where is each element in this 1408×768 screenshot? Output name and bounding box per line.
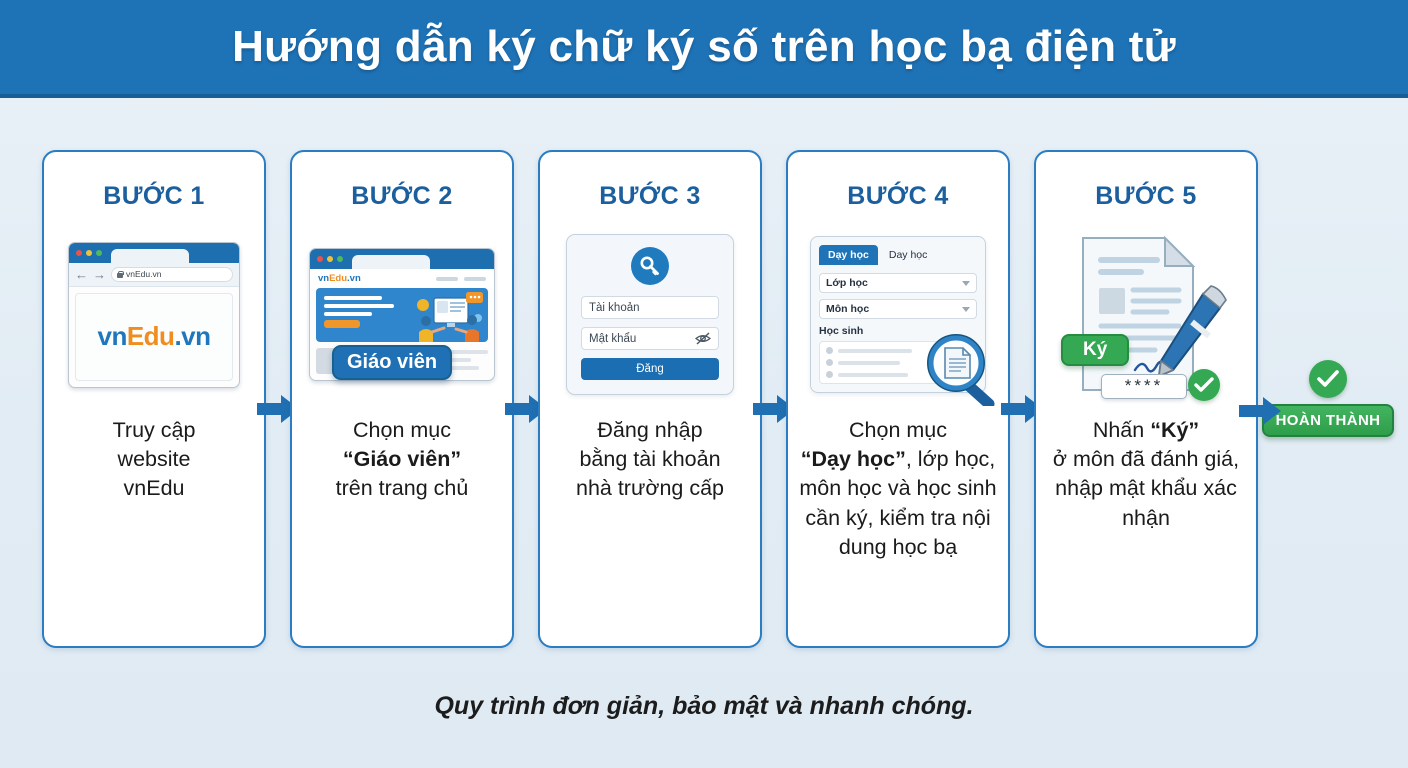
panel-tabs: Dạy học Day học xyxy=(819,245,977,265)
arrow-right-icon xyxy=(1239,396,1281,426)
step-card-1[interactable]: BƯỚC 1 ← → xyxy=(42,150,266,648)
step-1-illustration: ← → vnEdu.vn vnEdu.vn xyxy=(44,227,264,402)
vnedu-logo-dotvn: .vn xyxy=(347,273,361,284)
lock-icon xyxy=(117,271,123,278)
connector-gap-3 xyxy=(762,150,786,648)
teacher-role-button[interactable]: Giáo viên xyxy=(332,345,452,380)
page-title: Hướng dẫn ký chữ ký số trên học bạ điện … xyxy=(232,22,1176,72)
signature-password-input[interactable]: **** xyxy=(1101,374,1187,399)
browser-window-mock: ← → vnEdu.vn vnEdu.vn xyxy=(68,242,240,388)
step-card-4[interactable]: BƯỚC 4 Dạy học Day học Lớp học Môn học xyxy=(786,150,1010,648)
vnedu-logo: vnEdu.vn xyxy=(97,321,210,352)
subject-select[interactable]: Môn học xyxy=(819,299,977,319)
teacher-students-monitor-illustration xyxy=(410,288,488,342)
step-card-3[interactable]: BƯỚC 3 Tài khoản Mật khẩu xyxy=(538,150,762,648)
caption-text-5c: ở môn đã đánh giá, nhập mật khẩu xác nhậ… xyxy=(1053,447,1239,529)
caption-text-1: Truy cập website vnEdu xyxy=(113,418,196,500)
browser-viewport: vnEdu.vn xyxy=(75,293,233,381)
arrow-right-icon[interactable]: → xyxy=(93,268,106,281)
step-label-2: BƯỚC 2 xyxy=(292,182,512,211)
step-caption-4: Chọn mục “Dạy học”, lớp học, môn học và … xyxy=(798,416,998,562)
caption-text-5b: “Ký” xyxy=(1150,418,1199,442)
eye-off-icon[interactable] xyxy=(695,332,711,345)
close-dot-icon xyxy=(317,256,323,262)
class-select[interactable]: Lớp học xyxy=(819,273,977,293)
site-navbar: vnEdu.vn xyxy=(310,269,494,288)
nav-placeholder-item xyxy=(436,277,458,281)
close-dot-icon xyxy=(76,250,82,256)
step-caption-2: Chọn mục “Giáo viên” trên trang chủ xyxy=(302,416,502,504)
step-label-4: BƯỚC 4 xyxy=(788,182,1008,211)
student-name-placeholder xyxy=(838,373,908,377)
step-caption-3: Đăng nhập bằng tài khoản nhà trường cấp xyxy=(550,416,750,504)
step-caption-1: Truy cập website vnEdu xyxy=(54,416,254,504)
browser-navbar: ← → vnEdu.vn xyxy=(69,263,239,287)
login-submit-button[interactable]: Đăng xyxy=(581,358,719,380)
username-placeholder: Tài khoản xyxy=(589,302,640,314)
vnedu-logo-vn: vn xyxy=(97,321,126,351)
step-2-illustration: vnEdu.vn xyxy=(292,227,512,402)
username-field[interactable]: Tài khoản xyxy=(581,296,719,319)
hero-line xyxy=(324,296,382,300)
browser-titlebar xyxy=(69,243,239,263)
step-5-illustration: Ký **** xyxy=(1036,227,1256,402)
student-name-placeholder xyxy=(838,349,912,353)
header-banner: Hướng dẫn ký chữ ký số trên học bạ điện … xyxy=(0,0,1408,98)
bullet-icon xyxy=(826,359,833,366)
url-text: vnEdu.vn xyxy=(126,269,161,279)
vnedu-logo-dotvn: .vn xyxy=(174,321,210,351)
caption-text-4b: “Dạy học” xyxy=(801,447,906,471)
caption-text-2c: trên trang chủ xyxy=(336,476,469,500)
magnifier-document-icon xyxy=(923,330,997,406)
signing-document-mock: Ký **** xyxy=(1057,230,1235,400)
hero-banner xyxy=(316,288,488,342)
vnedu-logo-edu: Edu xyxy=(127,321,175,351)
hero-line xyxy=(324,304,394,308)
vnedu-logo-edu: Edu xyxy=(329,273,347,284)
minimize-dot-icon xyxy=(327,256,333,262)
maximize-dot-icon xyxy=(96,250,102,256)
hero-text-block xyxy=(316,288,410,342)
nav-placeholder-item xyxy=(464,277,486,281)
tab-day-hoc-idle[interactable]: Day học xyxy=(880,245,937,265)
maximize-dot-icon xyxy=(337,256,343,262)
connector-gap-4 xyxy=(1010,150,1034,648)
caption-text-2b: “Giáo viên” xyxy=(343,447,461,471)
step-label-5: BƯỚC 5 xyxy=(1036,182,1256,211)
chevron-down-icon xyxy=(962,307,970,312)
step-label-3: BƯỚC 3 xyxy=(540,182,760,211)
hero-line xyxy=(324,312,372,316)
browser-tab xyxy=(111,249,189,263)
infographic-page: Hướng dẫn ký chữ ký số trên học bạ điện … xyxy=(0,0,1408,768)
step-3-illustration: Tài khoản Mật khẩu Đăng xyxy=(540,227,760,402)
arrow-left-icon[interactable]: ← xyxy=(75,268,88,281)
footer-note: Quy trình đơn giản, bảo mật và nhanh chó… xyxy=(0,692,1408,721)
caption-text-3: Đăng nhập bằng tài khoản nhà trường cấp xyxy=(576,418,724,500)
student-name-placeholder xyxy=(838,361,900,365)
step-card-2[interactable]: BƯỚC 2 vnEdu.vn xyxy=(290,150,514,648)
step-caption-5: Nhấn “Ký” ở môn đã đánh giá, nhập mật kh… xyxy=(1046,416,1246,533)
step-card-5[interactable]: BƯỚC 5 xyxy=(1034,150,1258,648)
chevron-down-icon xyxy=(962,281,970,286)
finish-badge[interactable]: HOÀN THÀNH xyxy=(1262,404,1395,437)
browser-tab-2 xyxy=(352,255,430,269)
password-placeholder: Mật khẩu xyxy=(589,333,636,345)
check-circle-icon xyxy=(1309,360,1347,398)
hero-cta-button[interactable] xyxy=(324,320,360,328)
bullet-icon xyxy=(826,371,833,378)
class-select-label: Lớp học xyxy=(826,277,868,289)
check-circle-icon xyxy=(1188,369,1220,401)
tab-day-hoc-active[interactable]: Dạy học xyxy=(819,245,878,265)
step-4-illustration: Dạy học Day học Lớp học Môn học Học sinh xyxy=(788,227,1008,402)
caption-text-2a: Chọn mục xyxy=(353,418,451,442)
login-form-mock: Tài khoản Mật khẩu Đăng xyxy=(566,234,734,395)
vnedu-logo-vn: vn xyxy=(318,273,329,284)
finish-block: HOÀN THÀNH xyxy=(1258,360,1398,437)
step-label-1: BƯỚC 1 xyxy=(44,182,264,211)
password-field[interactable]: Mật khẩu xyxy=(581,327,719,350)
bullet-icon xyxy=(826,347,833,354)
connector-gap-2 xyxy=(514,150,538,648)
sign-button[interactable]: Ký xyxy=(1061,334,1129,366)
window-controls-2 xyxy=(317,256,343,262)
connector-gap-1 xyxy=(266,150,290,648)
steps-row: BƯỚC 1 ← → xyxy=(42,150,1258,648)
subject-select-label: Môn học xyxy=(826,303,869,315)
key-icon xyxy=(631,247,669,285)
vnedu-logo-small: vnEdu.vn xyxy=(318,273,361,284)
caption-text-5a: Nhấn xyxy=(1093,418,1144,442)
caption-text-4a: Chọn mục xyxy=(849,418,947,442)
window-controls xyxy=(76,250,102,256)
teaching-panel-mock: Dạy học Day học Lớp học Môn học Học sinh xyxy=(810,236,986,393)
browser-titlebar-2 xyxy=(310,249,494,269)
minimize-dot-icon xyxy=(86,250,92,256)
url-bar[interactable]: vnEdu.vn xyxy=(111,267,233,282)
